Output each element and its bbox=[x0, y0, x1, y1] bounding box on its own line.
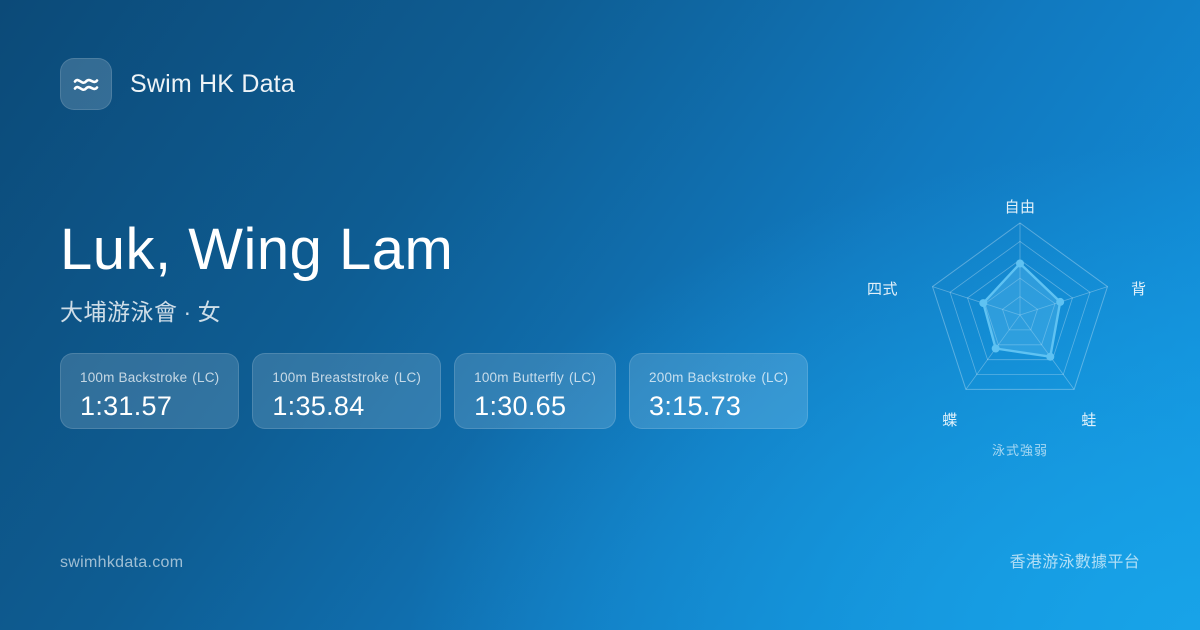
page-title: Luk, Wing Lam bbox=[60, 218, 860, 283]
stat-course: (LC) bbox=[192, 370, 219, 385]
wave-icon bbox=[60, 58, 112, 110]
stat-card: 100m Breaststroke(LC) 1:35.84 bbox=[252, 353, 441, 429]
stat-card-label: 100m Breaststroke(LC) bbox=[272, 370, 421, 385]
footer-site-url: swimhkdata.com bbox=[60, 554, 183, 572]
stroke-radar-chart: 自由背蛙蝶四式 泳式強弱 bbox=[860, 165, 1180, 475]
stat-course: (LC) bbox=[569, 370, 596, 385]
stat-card-label: 200m Backstroke(LC) bbox=[649, 370, 788, 385]
stat-event: 100m Backstroke bbox=[80, 370, 187, 385]
stat-card-value: 3:15.73 bbox=[649, 391, 788, 422]
social-share-card: Swim HK Data Luk, Wing Lam 大埔游泳會·女 100m … bbox=[0, 0, 1200, 630]
radar-data-point bbox=[992, 345, 1000, 353]
athlete-club: 大埔游泳會 bbox=[60, 299, 178, 325]
stat-card-label: 100m Backstroke(LC) bbox=[80, 370, 219, 385]
brand-name: Swim HK Data bbox=[130, 70, 295, 99]
radar-data-point bbox=[1056, 298, 1064, 306]
radar-axis-label: 背 bbox=[1131, 278, 1147, 299]
stat-card: 100m Butterfly(LC) 1:30.65 bbox=[454, 353, 616, 429]
radar-data-point bbox=[1046, 353, 1054, 361]
radar-axis-label: 蝶 bbox=[942, 409, 958, 430]
radar-axis-label: 蛙 bbox=[1081, 409, 1097, 430]
radar-caption: 泳式強弱 bbox=[860, 440, 1180, 459]
stat-event: 100m Butterfly bbox=[474, 370, 564, 385]
brand-header: Swim HK Data bbox=[60, 58, 295, 110]
meta-separator: · bbox=[184, 299, 192, 325]
stat-card-list: 100m Backstroke(LC) 1:31.57 100m Breasts… bbox=[60, 353, 808, 429]
athlete-gender: 女 bbox=[198, 299, 222, 325]
stat-card: 200m Backstroke(LC) 3:15.73 bbox=[629, 353, 808, 429]
footer-tagline: 香港游泳數據平台 bbox=[1010, 548, 1140, 572]
radar-data-area bbox=[983, 264, 1060, 357]
radar-axis-label: 四式 bbox=[867, 278, 898, 299]
radar-data-point bbox=[979, 299, 987, 307]
stat-course: (LC) bbox=[761, 370, 788, 385]
athlete-block: Luk, Wing Lam 大埔游泳會·女 bbox=[60, 218, 860, 327]
stat-card-value: 1:35.84 bbox=[272, 391, 421, 422]
stat-course: (LC) bbox=[394, 370, 421, 385]
athlete-meta: 大埔游泳會·女 bbox=[60, 293, 860, 327]
stat-card-label: 100m Butterfly(LC) bbox=[474, 370, 596, 385]
radar-axis-label: 自由 bbox=[1004, 196, 1035, 217]
stat-event: 200m Backstroke bbox=[649, 370, 756, 385]
stat-card-value: 1:30.65 bbox=[474, 391, 596, 422]
stat-card-value: 1:31.57 bbox=[80, 391, 219, 422]
stat-event: 100m Breaststroke bbox=[272, 370, 389, 385]
stat-card: 100m Backstroke(LC) 1:31.57 bbox=[60, 353, 239, 429]
radar-data-point bbox=[1016, 260, 1024, 268]
